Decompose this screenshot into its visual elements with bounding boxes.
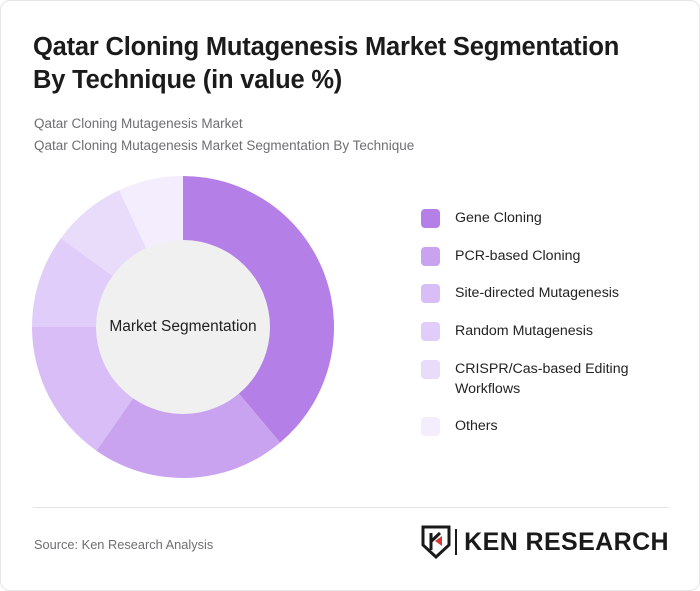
legend-label: Random Mutagenesis: [455, 321, 593, 341]
legend-label: Gene Cloning: [455, 208, 542, 228]
legend-swatch: [421, 322, 440, 341]
legend-swatch: [421, 247, 440, 266]
legend-label: Site-directed Mutagenesis: [455, 283, 619, 303]
ken-research-logo: KEN RESEARCH: [421, 525, 669, 559]
legend-item[interactable]: Gene Cloning: [421, 208, 681, 228]
subtitle-line-1: Qatar Cloning Mutagenesis Market: [34, 113, 654, 135]
legend-swatch: [421, 360, 440, 379]
donut-hole: [96, 240, 270, 414]
chart-legend: Gene CloningPCR-based CloningSite-direct…: [421, 208, 681, 454]
legend-item[interactable]: Others: [421, 416, 681, 436]
logo-divider: [455, 529, 457, 555]
legend-swatch: [421, 209, 440, 228]
legend-label: PCR-based Cloning: [455, 246, 580, 266]
legend-item[interactable]: PCR-based Cloning: [421, 246, 681, 266]
legend-item[interactable]: Site-directed Mutagenesis: [421, 283, 681, 303]
legend-label: Others: [455, 416, 498, 436]
legend-swatch: [421, 284, 440, 303]
chart-area: Market Segmentation Gene CloningPCR-base…: [1, 166, 700, 496]
chart-card: Qatar Cloning Mutagenesis Market Segment…: [0, 0, 700, 591]
legend-item[interactable]: Random Mutagenesis: [421, 321, 681, 341]
logo-wordmark: KEN RESEARCH: [464, 528, 669, 557]
subtitle-block: Qatar Cloning Mutagenesis Market Qatar C…: [34, 113, 654, 157]
ken-research-shield-icon: [421, 525, 451, 559]
donut-chart: Market Segmentation: [32, 176, 334, 478]
legend-label: CRISPR/Cas-based Editing Workflows: [455, 359, 660, 399]
donut-svg: [32, 176, 334, 478]
legend-swatch: [421, 417, 440, 436]
source-text: Source: Ken Research Analysis: [34, 537, 213, 552]
legend-item[interactable]: CRISPR/Cas-based Editing Workflows: [421, 359, 681, 399]
subtitle-line-2: Qatar Cloning Mutagenesis Market Segment…: [34, 135, 654, 157]
page-title: Qatar Cloning Mutagenesis Market Segment…: [33, 31, 658, 96]
footer-divider: [33, 507, 669, 508]
